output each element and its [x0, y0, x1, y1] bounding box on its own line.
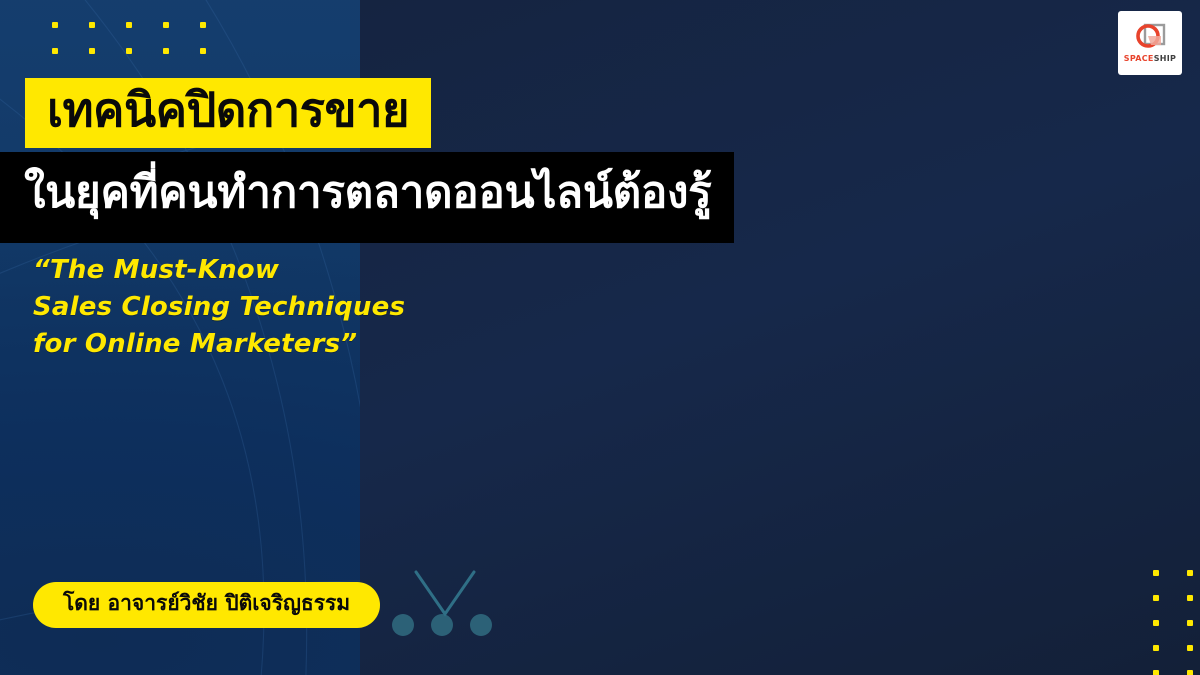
- subtitle-line-2: Sales Closing Techniques: [33, 289, 405, 326]
- author-badge: โดย อาจารย์วิชัย ปิติเจริญธรรม: [33, 582, 380, 628]
- page-title-line1: เทคนิคปิดการขาย: [47, 87, 409, 134]
- dot-grid-top-left: [52, 22, 206, 74]
- illustration-background: [360, 0, 1200, 675]
- banner-canvas: เทคนิคปิดการขาย ในยุคที่คนทำการตลาดออนไล…: [0, 0, 1200, 675]
- illustration-panel: [360, 0, 1200, 675]
- logo-text-ship: SHIP: [1154, 54, 1177, 63]
- title-banner-line1: เทคนิคปิดการขาย: [25, 78, 431, 148]
- spaceship-wordmark: SPACESHIP: [1124, 55, 1176, 63]
- subtitle-line-3: for Online Marketers”: [33, 326, 405, 363]
- page-title-line2: ในยุคที่คนทำการตลาดออนไลน์ต้องรู้: [24, 171, 712, 215]
- subtitle-line-1: “The Must-Know: [33, 252, 405, 289]
- logo-text-space: SPACE: [1124, 54, 1154, 63]
- spaceship-mark-icon: [1133, 23, 1167, 53]
- author-badge-label: โดย อาจารย์วิชัย ปิติเจริญธรรม: [63, 591, 350, 615]
- chevron-down-icon: [412, 568, 478, 620]
- dot-grid-bottom-right: [1153, 570, 1193, 675]
- title-banner-line2: ในยุคที่คนทำการตลาดออนไลน์ต้องรู้: [0, 152, 734, 243]
- spaceship-logo: SPACESHIP: [1118, 11, 1182, 75]
- subtitle-english: “The Must-Know Sales Closing Techniques …: [33, 252, 405, 363]
